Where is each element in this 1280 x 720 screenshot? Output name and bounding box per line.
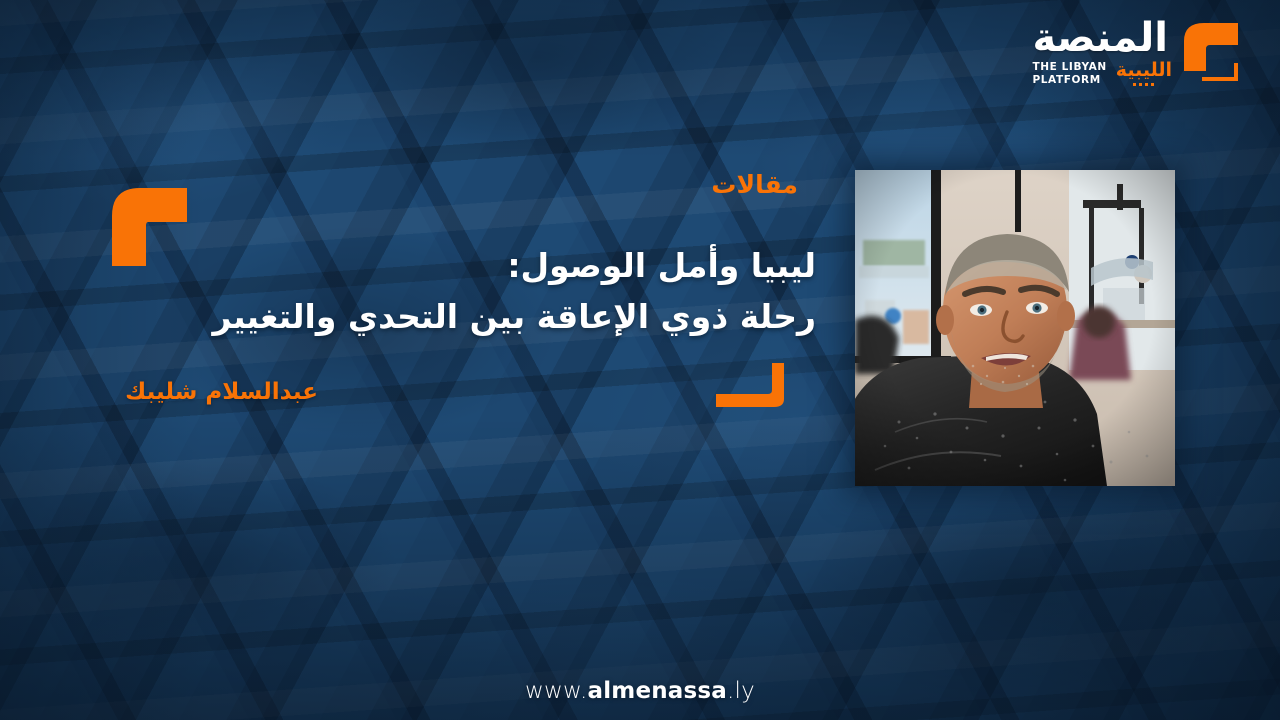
article-kicker: مقالات — [711, 172, 798, 197]
logo-dots-decoration — [1116, 83, 1172, 86]
orange-hook-large-icon — [92, 180, 197, 272]
logo-text-block: المنصة الليبية THE LIBYAN PLATFORM — [1032, 18, 1172, 86]
logo-arabic-sub: الليبية — [1116, 61, 1172, 80]
logo-arabic-main: المنصة — [1032, 18, 1168, 58]
url-suffix: .ly — [727, 678, 755, 704]
brand-logo: المنصة الليبية THE LIBYAN PLATFORM — [1032, 18, 1244, 86]
logo-sub-row: الليبية THE LIBYAN PLATFORM — [1032, 61, 1172, 86]
url-prefix: www. — [525, 678, 587, 704]
logo-latin-line-1: THE LIBYAN — [1032, 61, 1106, 73]
headline-line-1: ليبيا وأمل الوصول: — [196, 240, 816, 291]
article-author: عبدالسلام شليبك — [125, 381, 318, 404]
logo-latin-line-2: PLATFORM — [1032, 74, 1106, 86]
author-portrait-photo — [855, 170, 1175, 486]
headline-line-2: رحلة ذوي الإعاقة بين التحدي والتغيير — [196, 291, 816, 342]
orange-hook-small-icon — [712, 363, 792, 413]
logo-arabic-sub-wrap: الليبية — [1116, 61, 1172, 86]
url-domain: almenassa — [587, 678, 727, 704]
logo-hook-icon — [1180, 19, 1244, 85]
logo-latin-text: THE LIBYAN PLATFORM — [1032, 61, 1106, 86]
article-headline: ليبيا وأمل الوصول: رحلة ذوي الإعاقة بين … — [196, 240, 816, 342]
article-promo-card: مقالات ليبيا وأمل الوصول: رحلة ذوي الإعا… — [0, 0, 1280, 720]
footer-website-url: www.almenassa.ly — [0, 678, 1280, 704]
